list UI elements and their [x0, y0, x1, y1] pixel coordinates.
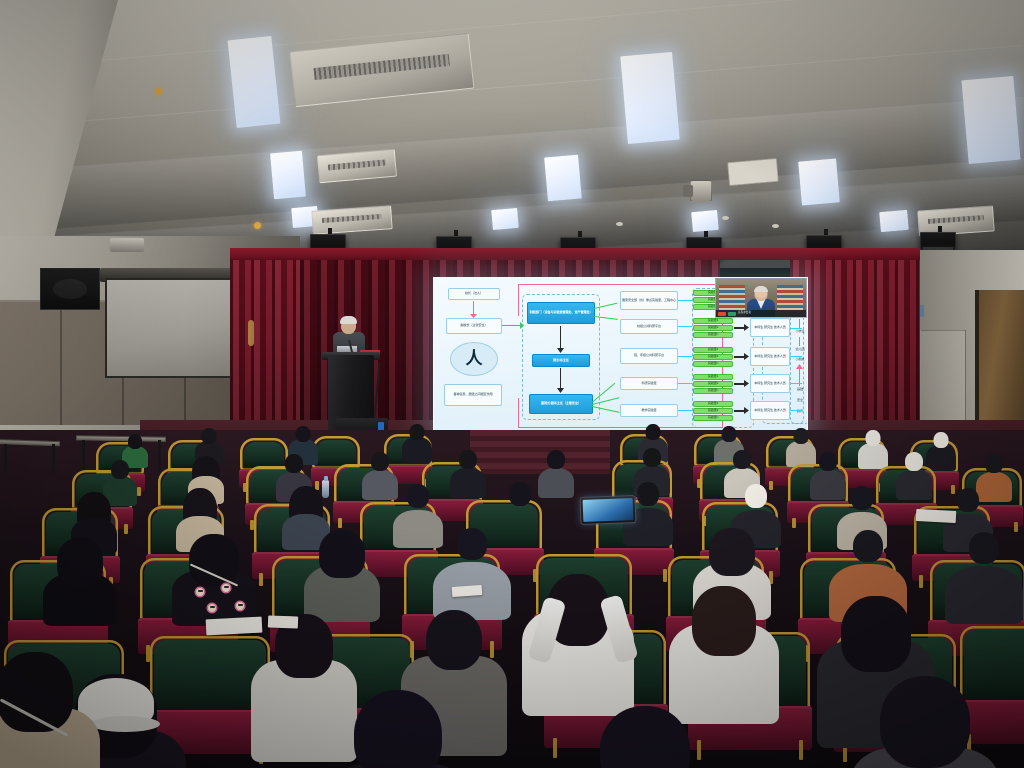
presenter-hair [340, 316, 357, 324]
audience-person [580, 698, 710, 768]
slide-node-staff-4: 本科生 研究生 技术人员 [750, 374, 790, 393]
audience-person [860, 666, 990, 768]
feedback-line-pink [518, 427, 723, 428]
slide-node-staff-2: 本科生 研究生 技术人员 [750, 318, 790, 337]
feedback-line-pink [518, 284, 519, 316]
ceiling-projector [690, 180, 712, 202]
table-leg [52, 444, 55, 474]
slide-lab-item: 实验室1 [693, 374, 733, 380]
slide-lab-item: 实验室2 [693, 325, 733, 331]
slide-node-dean: 院长/系主任 [532, 354, 590, 367]
curtain-valance [230, 248, 920, 260]
jacket-print-icon [196, 588, 204, 596]
slide-lab-item: 实验室2 [693, 381, 733, 387]
panel-light [620, 52, 679, 144]
slide-lab-item: 实验室n [693, 332, 733, 338]
arrow-right-cyan [678, 300, 692, 301]
notebook[interactable] [916, 509, 957, 523]
slide-node-staff-3: 本科生 研究生 技术人员 [750, 347, 790, 366]
arrow-left-cyan [790, 410, 802, 411]
arrow-left-cyan [790, 328, 802, 329]
notebook[interactable] [452, 585, 483, 597]
slide-node-platform-1: 国家安全部（省）重点实验室、工程中心 [620, 291, 678, 310]
arrow-up-pink [799, 337, 800, 346]
slide-lab-item: 实验室1 [693, 318, 733, 324]
audience-person [952, 532, 1016, 620]
slide-node-edu-5: 基础 [790, 386, 808, 394]
slide-node-vice-dean: 副院长/副系主任（主管安全） [529, 394, 593, 414]
slide-node-platform-5: 教学实验室 [620, 404, 678, 417]
panel-light [228, 36, 281, 128]
panel-light [879, 210, 909, 232]
slide-node-edu-6: 安全 [790, 397, 808, 405]
person-photographing-slide [530, 552, 626, 712]
conference-hall-photo: 校长（法人） 副校长（主管安全） 人 各种任务、层级之间相互作用 职能部门（设备… [0, 0, 1024, 768]
table-leg [4, 444, 7, 474]
slide-lab-group-5: 实验室1 实验室2 实验室n [693, 401, 733, 419]
curtain-tieback [248, 320, 254, 346]
ceiling-ac-cassette [290, 33, 475, 108]
smoke-detector [722, 216, 729, 220]
panel-light [544, 155, 582, 202]
side-projection-screen [105, 278, 245, 378]
slide-lab-item: 实验室2 [693, 408, 733, 414]
feedback-line-pink [518, 398, 519, 428]
notebook[interactable] [206, 617, 263, 636]
slide-node-edu-3: 幼儿园 [790, 346, 808, 354]
jacket-print-icon [222, 584, 230, 592]
ceiling-indicator-light [254, 222, 261, 229]
ceiling-indicator-light [155, 88, 162, 95]
smoke-detector [772, 224, 779, 228]
audience-person [788, 428, 814, 462]
participant-hair [754, 286, 768, 292]
audience-person [860, 430, 886, 464]
jacket-print-icon [236, 602, 244, 610]
arrow-down-pink [473, 301, 474, 315]
slide-lab-item: 实验室n [693, 415, 733, 421]
arrow-right-cyan [678, 383, 692, 384]
smartphone[interactable] [580, 495, 637, 525]
slide-lab-group-2: 实验室1 实验室2 实验室n [693, 318, 733, 336]
audience-person [364, 452, 396, 496]
ceiling-seam [2, 0, 1022, 70]
ceiling-projector [110, 238, 144, 252]
feedback-line-pink [518, 284, 636, 285]
arrow-right-cyan [678, 356, 692, 357]
video-toolbar[interactable]: 远程参会者 [716, 310, 806, 317]
slide-lab-item: 实验室1 [693, 401, 733, 407]
wood-panel-seam [60, 302, 62, 442]
phone-screen [583, 498, 634, 522]
mute-icon[interactable] [718, 312, 726, 316]
presentation-slide: 校长（法人） 副校长（主管安全） 人 各种任务、层级之间相互作用 职能部门（设备… [434, 278, 807, 434]
person-with-cartoon-jacket [178, 534, 250, 620]
panel-light [491, 208, 519, 230]
slide-lab-item: 实验室1 [693, 347, 733, 353]
folding-table [76, 435, 166, 442]
table-leg [82, 440, 85, 472]
arrow-right-cyan [678, 326, 692, 327]
slide-lab-item: 实验室n [693, 388, 733, 394]
notebook[interactable] [268, 615, 298, 628]
arrow-up-pink [799, 319, 800, 328]
panel-light [798, 158, 840, 205]
arrow-right-cyan [678, 410, 692, 411]
ceiling-ac-vent [727, 158, 779, 186]
arrow-down-dark [560, 326, 561, 350]
panel-light [961, 76, 1020, 164]
video-icon[interactable] [728, 312, 736, 316]
ceiling-bulkhead-edge [0, 0, 150, 268]
slide-node-platform-4: 科研实验室 [620, 377, 678, 390]
audience-person [398, 484, 438, 542]
arrow-left-cyan [790, 383, 802, 384]
audience-person [452, 450, 484, 494]
slide-node-vice-principal: 副校长（主管安全） [446, 318, 502, 334]
cap-brim [90, 716, 160, 732]
audience-person [812, 452, 844, 496]
slide-lab-item: 实验室n [693, 361, 733, 367]
audience-person [540, 450, 572, 494]
feedback-line-pink [634, 284, 724, 285]
slide-lab-group-3: 实验室1 实验室2 实验室n [693, 347, 733, 365]
slide-lab-item: 实验室2 [693, 354, 733, 360]
ceiling [0, 0, 1024, 268]
slide-node-edu-4: 小朋友 [790, 356, 808, 364]
participant-name-label: 远程参会者 [738, 312, 751, 315]
slide-node-dept: 职能部门（设备与实验室管理处、资产管理处） [527, 302, 595, 324]
wall-speaker [40, 268, 100, 310]
audience-person [48, 538, 112, 622]
main-projection-screen: 校长（法人） 副校长（主管安全） 人 各种任务、层级之间相互作用 职能部门（设备… [433, 277, 808, 435]
slide-lab-group-4: 实验室1 实验室2 实验室n [693, 374, 733, 392]
arrow-left-cyan [790, 356, 802, 357]
panel-light [270, 151, 306, 200]
jacket-print-icon [208, 604, 216, 612]
slide-node-platform-2: 校级公共科研平台 [620, 319, 678, 334]
slide-node-staff-5: 本科生 研究生 技术人员 [750, 401, 790, 420]
slide-node-platform-3: 院、年级公共科研平台 [620, 348, 678, 364]
slide-node-principal: 校长（法人） [448, 288, 500, 300]
arrow-right-green [502, 325, 522, 326]
slide-node-interaction: 各种任务、层级之间相互作用 [444, 384, 502, 406]
audience-person [0, 638, 90, 768]
audience-person [898, 452, 930, 496]
audience-person [928, 432, 954, 466]
slide-node-edu-2: 小学生 [790, 328, 808, 336]
video-conference-feed[interactable]: 远程参会者 [715, 278, 807, 318]
smoke-detector [616, 222, 623, 226]
slide-node-human-factor: 人 [450, 342, 498, 376]
audience-person [500, 482, 540, 540]
audience-person [336, 680, 460, 768]
audience-area [0, 430, 1024, 768]
arrow-down-dark [560, 368, 561, 390]
panel-light [691, 210, 719, 232]
audience-person [404, 424, 430, 458]
